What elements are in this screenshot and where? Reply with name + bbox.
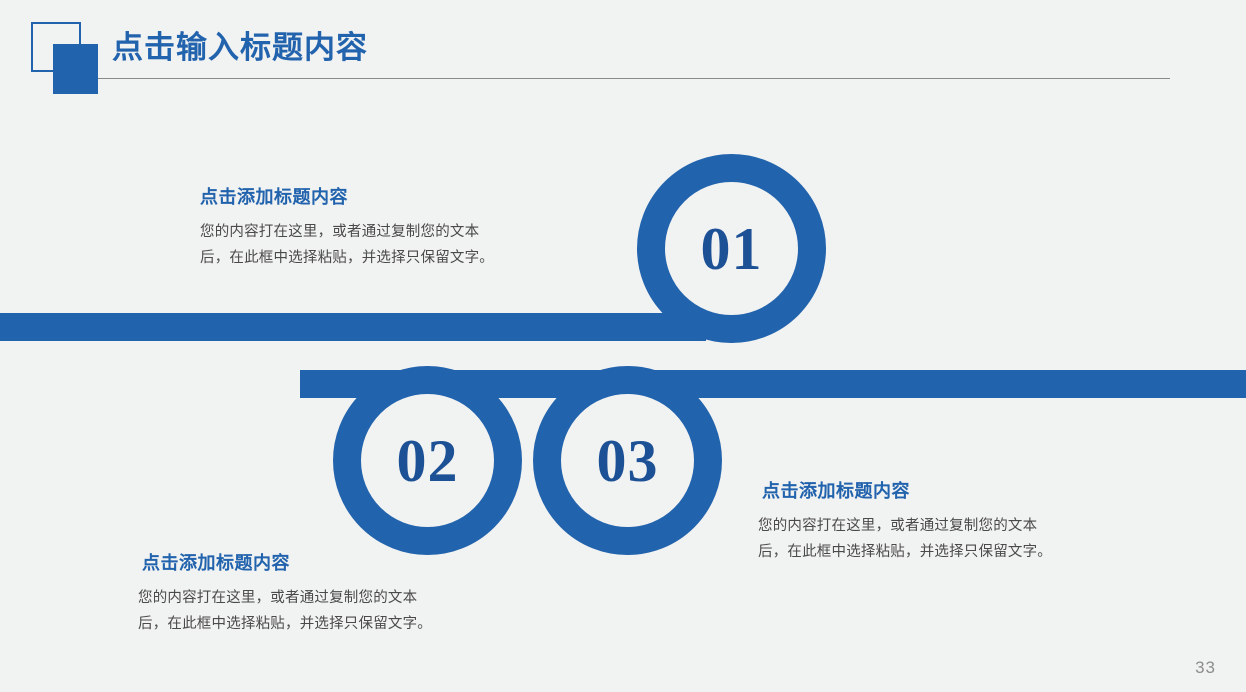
content-body-02: 您的内容打在这里，或者通过复制您的文本 后，在此框中选择粘贴，并选择只保留文字。 bbox=[138, 585, 432, 637]
step-circle-01[interactable]: 01 bbox=[637, 154, 826, 343]
content-title-02: 点击添加标题内容 bbox=[142, 550, 432, 576]
content-body-01: 您的内容打在这里，或者通过复制您的文本 后，在此框中选择粘贴，并选择只保留文字。 bbox=[200, 219, 494, 271]
content-block-02: 点击添加标题内容 您的内容打在这里，或者通过复制您的文本 后，在此框中选择粘贴，… bbox=[138, 550, 432, 637]
page-title: 点击输入标题内容 bbox=[112, 26, 368, 70]
header-divider bbox=[98, 78, 1170, 79]
content-body-03: 您的内容打在这里，或者通过复制您的文本 后，在此框中选择粘贴，并选择只保留文字。 bbox=[758, 513, 1052, 565]
content-body-02-line1: 您的内容打在这里，或者通过复制您的文本 bbox=[138, 585, 432, 611]
content-body-01-line1: 您的内容打在这里，或者通过复制您的文本 bbox=[200, 219, 494, 245]
step-number-02: 02 bbox=[397, 431, 459, 491]
step-circle-02[interactable]: 02 bbox=[333, 366, 522, 555]
connector-bar-upper bbox=[0, 313, 706, 341]
page-number: 33 bbox=[1195, 658, 1216, 678]
content-body-01-line2: 后，在此框中选择粘贴，并选择只保留文字。 bbox=[200, 245, 494, 271]
content-block-01: 点击添加标题内容 您的内容打在这里，或者通过复制您的文本 后，在此框中选择粘贴，… bbox=[200, 184, 494, 271]
header-square-filled-icon bbox=[53, 44, 98, 94]
content-block-03: 点击添加标题内容 您的内容打在这里，或者通过复制您的文本 后，在此框中选择粘贴，… bbox=[758, 478, 1052, 565]
slide-canvas: 点击输入标题内容 01 02 03 点击添加标题内容 您的内容打在这里，或者通过… bbox=[0, 0, 1246, 692]
content-title-03: 点击添加标题内容 bbox=[762, 478, 1052, 504]
content-body-03-line1: 您的内容打在这里，或者通过复制您的文本 bbox=[758, 513, 1052, 539]
content-title-01: 点击添加标题内容 bbox=[200, 184, 494, 210]
content-body-02-line2: 后，在此框中选择粘贴，并选择只保留文字。 bbox=[138, 611, 432, 637]
step-circle-03[interactable]: 03 bbox=[533, 366, 722, 555]
content-body-03-line2: 后，在此框中选择粘贴，并选择只保留文字。 bbox=[758, 539, 1052, 565]
step-number-01: 01 bbox=[701, 219, 763, 279]
step-number-03: 03 bbox=[597, 431, 659, 491]
